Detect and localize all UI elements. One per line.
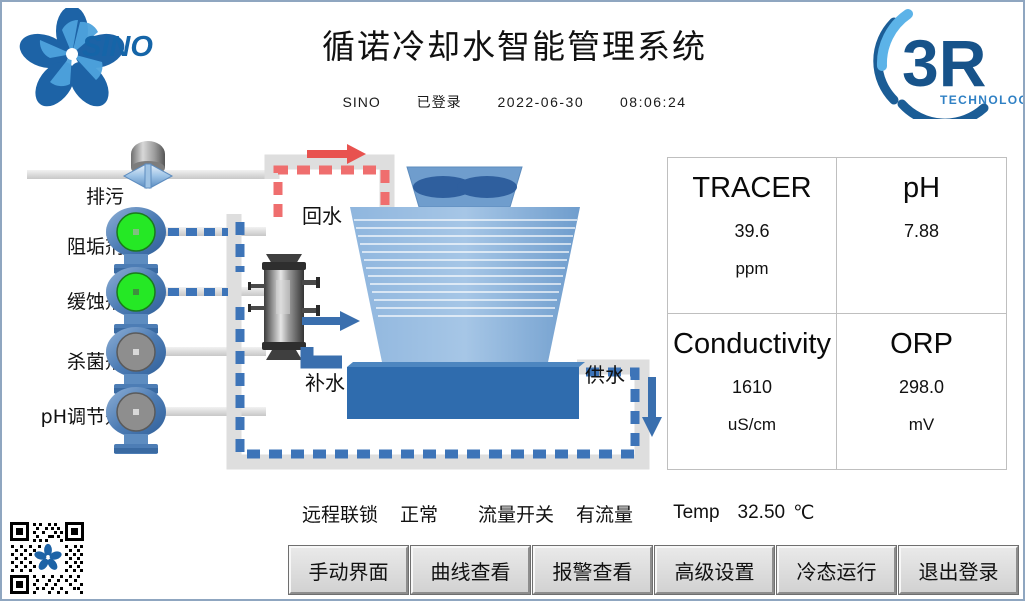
status-row: 远程联锁 正常 流量开关 有流量 Temp 32.50 ℃ bbox=[302, 498, 1012, 528]
flow-switch-label: 流量开关 bbox=[478, 500, 554, 527]
reading-conductivity: Conductivity 1610 uS/cm bbox=[668, 314, 837, 470]
scada-screen: SINO 3R TECHNOLOGY 循诺冷却水智能管理系统 SINO 已登录 … bbox=[0, 0, 1025, 601]
label-supply-water: 供水 bbox=[585, 359, 625, 388]
reading-conductivity-name: Conductivity bbox=[673, 328, 831, 361]
user-name: SINO bbox=[342, 94, 380, 110]
dosing-pump-corrosion-inhibitor bbox=[106, 267, 166, 334]
arrow-makeup-water bbox=[302, 311, 360, 331]
reading-tracer: TRACER 39.6 ppm bbox=[668, 158, 837, 314]
reading-ph-name: pH bbox=[903, 172, 940, 205]
label-makeup-water: 补水 bbox=[305, 367, 345, 396]
reading-tracer-name: TRACER bbox=[692, 172, 811, 205]
flow-switch-value: 有流量 bbox=[576, 500, 633, 527]
process-diagram: 回水 补水 供水 bbox=[2, 122, 662, 482]
current-date: 2022-06-30 bbox=[498, 94, 585, 110]
reading-conductivity-unit: uS/cm bbox=[728, 415, 776, 435]
readings-panel: TRACER 39.6 ppm pH 7.88 Conductivity 161… bbox=[667, 157, 1007, 470]
interlock-value: 正常 bbox=[400, 500, 438, 527]
reading-ph-value: 7.88 bbox=[904, 221, 939, 242]
dosing-pump-biocide bbox=[106, 327, 166, 394]
current-time: 08:06:24 bbox=[620, 94, 687, 110]
label-return-water: 回水 bbox=[302, 200, 342, 229]
trend-view-button[interactable]: 曲线查看 bbox=[411, 546, 530, 594]
manual-interface-button[interactable]: 手动界面 bbox=[289, 546, 408, 594]
logout-button[interactable]: 退出登录 bbox=[899, 546, 1018, 594]
reading-tracer-unit: ppm bbox=[735, 259, 768, 279]
reading-ph: pH 7.88 bbox=[837, 158, 1006, 314]
reading-orp-unit: mV bbox=[909, 415, 935, 435]
alarm-view-button[interactable]: 报警查看 bbox=[533, 546, 652, 594]
reading-orp-value: 298.0 bbox=[899, 377, 944, 398]
cold-start-button[interactable]: 冷态运行 bbox=[777, 546, 896, 594]
reading-orp-name: ORP bbox=[890, 328, 953, 361]
page-title: 循诺冷却水智能管理系统 bbox=[2, 20, 1025, 68]
reading-orp: ORP 298.0 mV bbox=[837, 314, 1006, 470]
header-meta: SINO 已登录 2022-06-30 08:06:24 bbox=[2, 92, 1025, 112]
heat-exchanger bbox=[248, 254, 320, 360]
interlock-label: 远程联锁 bbox=[302, 500, 378, 527]
advanced-settings-button[interactable]: 高级设置 bbox=[655, 546, 774, 594]
blowdown-valve bbox=[124, 141, 172, 188]
temp-value: 32.50 bbox=[738, 502, 786, 524]
reading-conductivity-value: 1610 bbox=[732, 377, 772, 398]
reading-tracer-value: 39.6 bbox=[734, 221, 769, 242]
temp-unit: ℃ bbox=[793, 502, 814, 525]
dosing-pump-ph-adjuster bbox=[106, 387, 166, 454]
login-status: 已登录 bbox=[417, 94, 462, 110]
temp-label: Temp bbox=[673, 502, 719, 524]
tower-basin bbox=[347, 367, 579, 419]
button-bar: 手动界面 曲线查看 报警查看 高级设置 冷态运行 退出登录 bbox=[289, 546, 1018, 594]
qr-code bbox=[7, 519, 89, 599]
dosing-pump-antiscalant bbox=[106, 207, 166, 274]
